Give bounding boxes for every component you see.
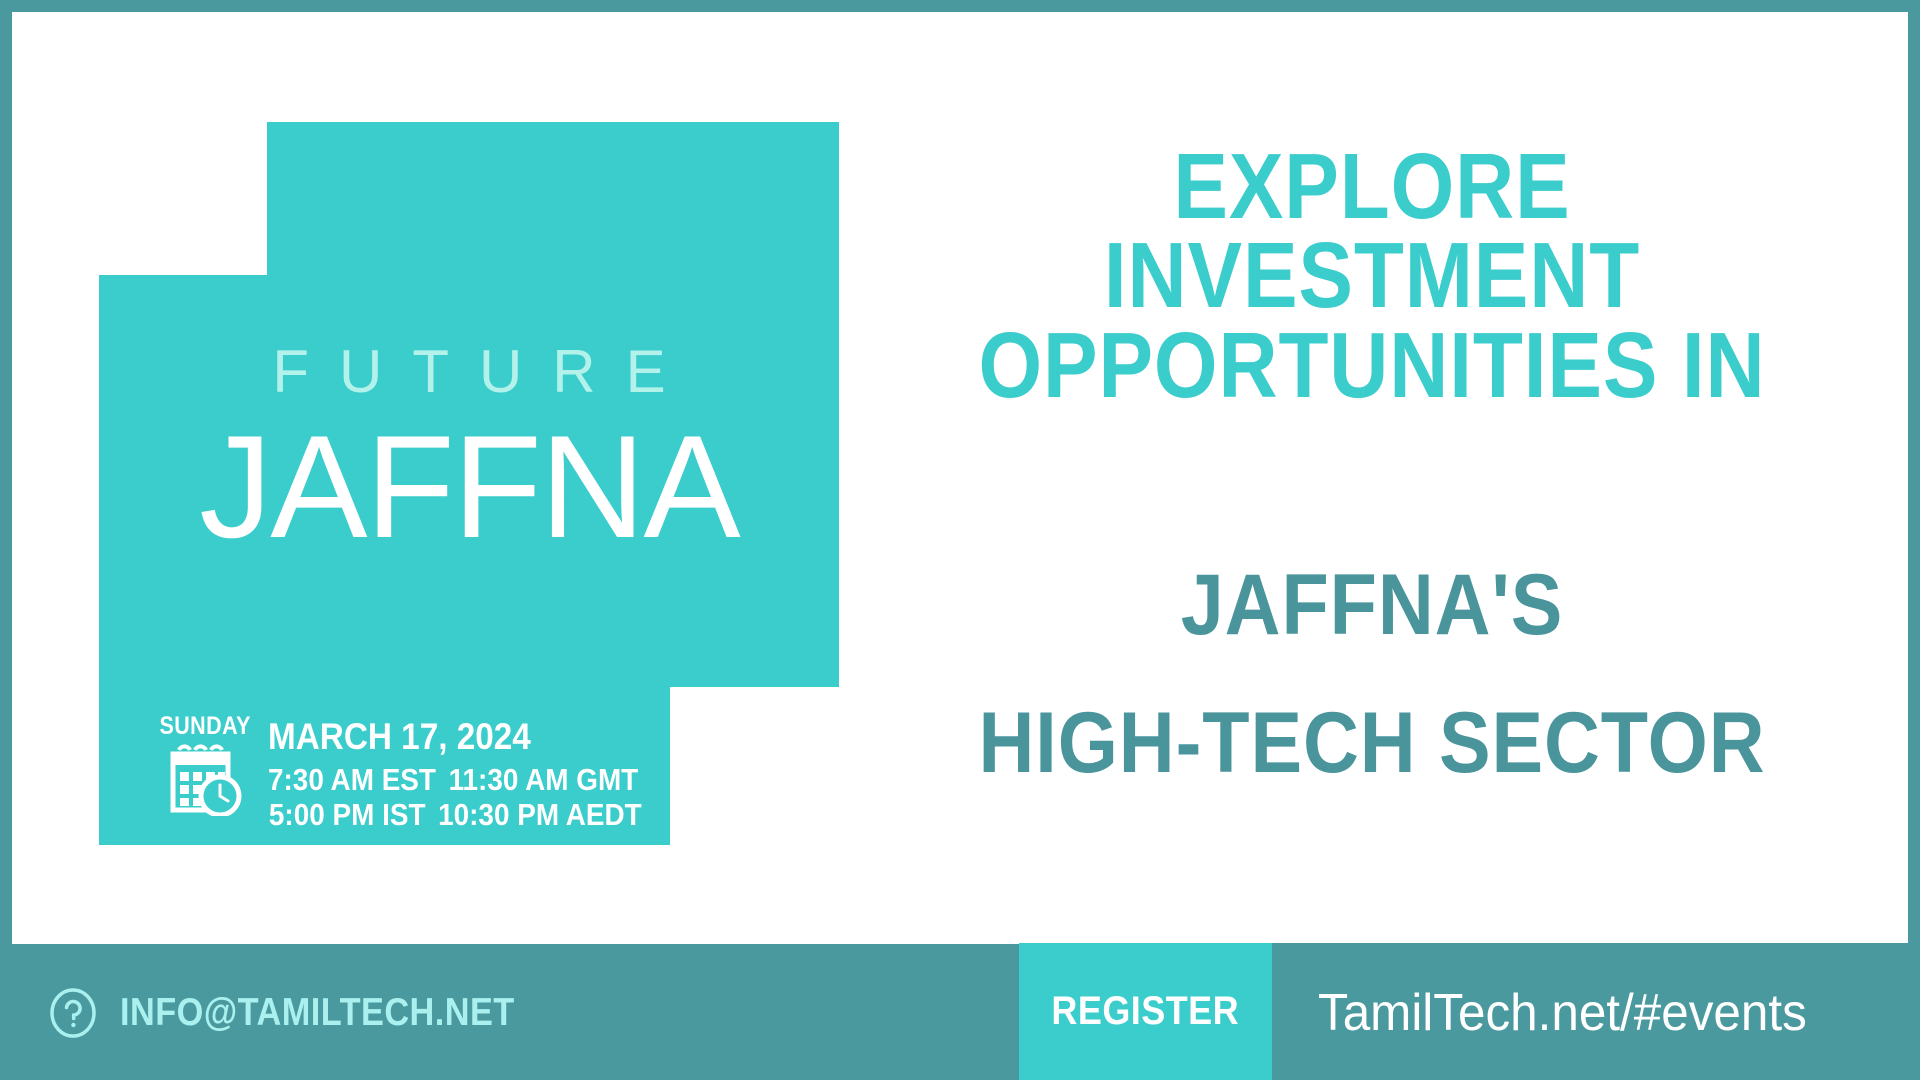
site-url-link[interactable]: TamilTech.net/#events [1318,945,1807,1080]
subheadline: JAFFNA'S HIGH-TECH SECTOR [892,562,1852,786]
subheadline-line-1: JAFFNA'S [940,562,1804,648]
contact-email-text: INFO@TAMILTECH.NET [120,991,515,1035]
time-local-1: 7:30 AM EST [268,762,436,797]
poster-canvas: FUTURE JAFFNA SUNDAY [12,12,1908,944]
site-url-text: TamilTech.net/#events [1318,983,1807,1043]
event-day-label: SUNDAY [159,712,250,741]
headline-line-3: OPPORTUNITIES IN [950,321,1795,410]
time-alt-1: 11:30 AM GMT [449,762,639,797]
question-circle-icon [48,988,98,1038]
time-row: 7:30 AM EST 11:30 AM GMT [268,762,642,797]
event-date: MARCH 17, 2024 [268,716,642,758]
headline-line-1: EXPLORE [950,142,1795,231]
datetime-right: MARCH 17, 2024 7:30 AM EST 11:30 AM GMT … [268,712,683,833]
time-local-2: 5:00 PM IST [268,797,426,832]
time-alt-2: 10:30 PM AEDT [438,797,642,832]
datetime-left: SUNDAY [152,712,258,821]
time-row: 5:00 PM IST 10:30 PM AEDT [268,797,642,832]
event-poster: FUTURE JAFFNA SUNDAY [0,0,1920,1080]
event-datetime: SUNDAY [152,712,684,833]
register-button-label: REGISTER [1052,989,1240,1034]
subheadline-line-2: HIGH-TECH SECTOR [940,700,1804,786]
contact-email[interactable]: INFO@TAMILTECH.NET [48,945,569,1080]
calendar-clock-icon [168,744,242,821]
headline: EXPLORE INVESTMENT OPPORTUNITIES IN [892,142,1852,410]
footer-bar: INFO@TAMILTECH.NET REGISTER TamilTech.ne… [0,945,1920,1080]
register-button[interactable]: REGISTER [1019,943,1272,1080]
event-times: 7:30 AM EST 11:30 AM GMT 5:00 PM IST 10:… [268,762,642,833]
headline-line-2: INVESTMENT [950,231,1795,320]
